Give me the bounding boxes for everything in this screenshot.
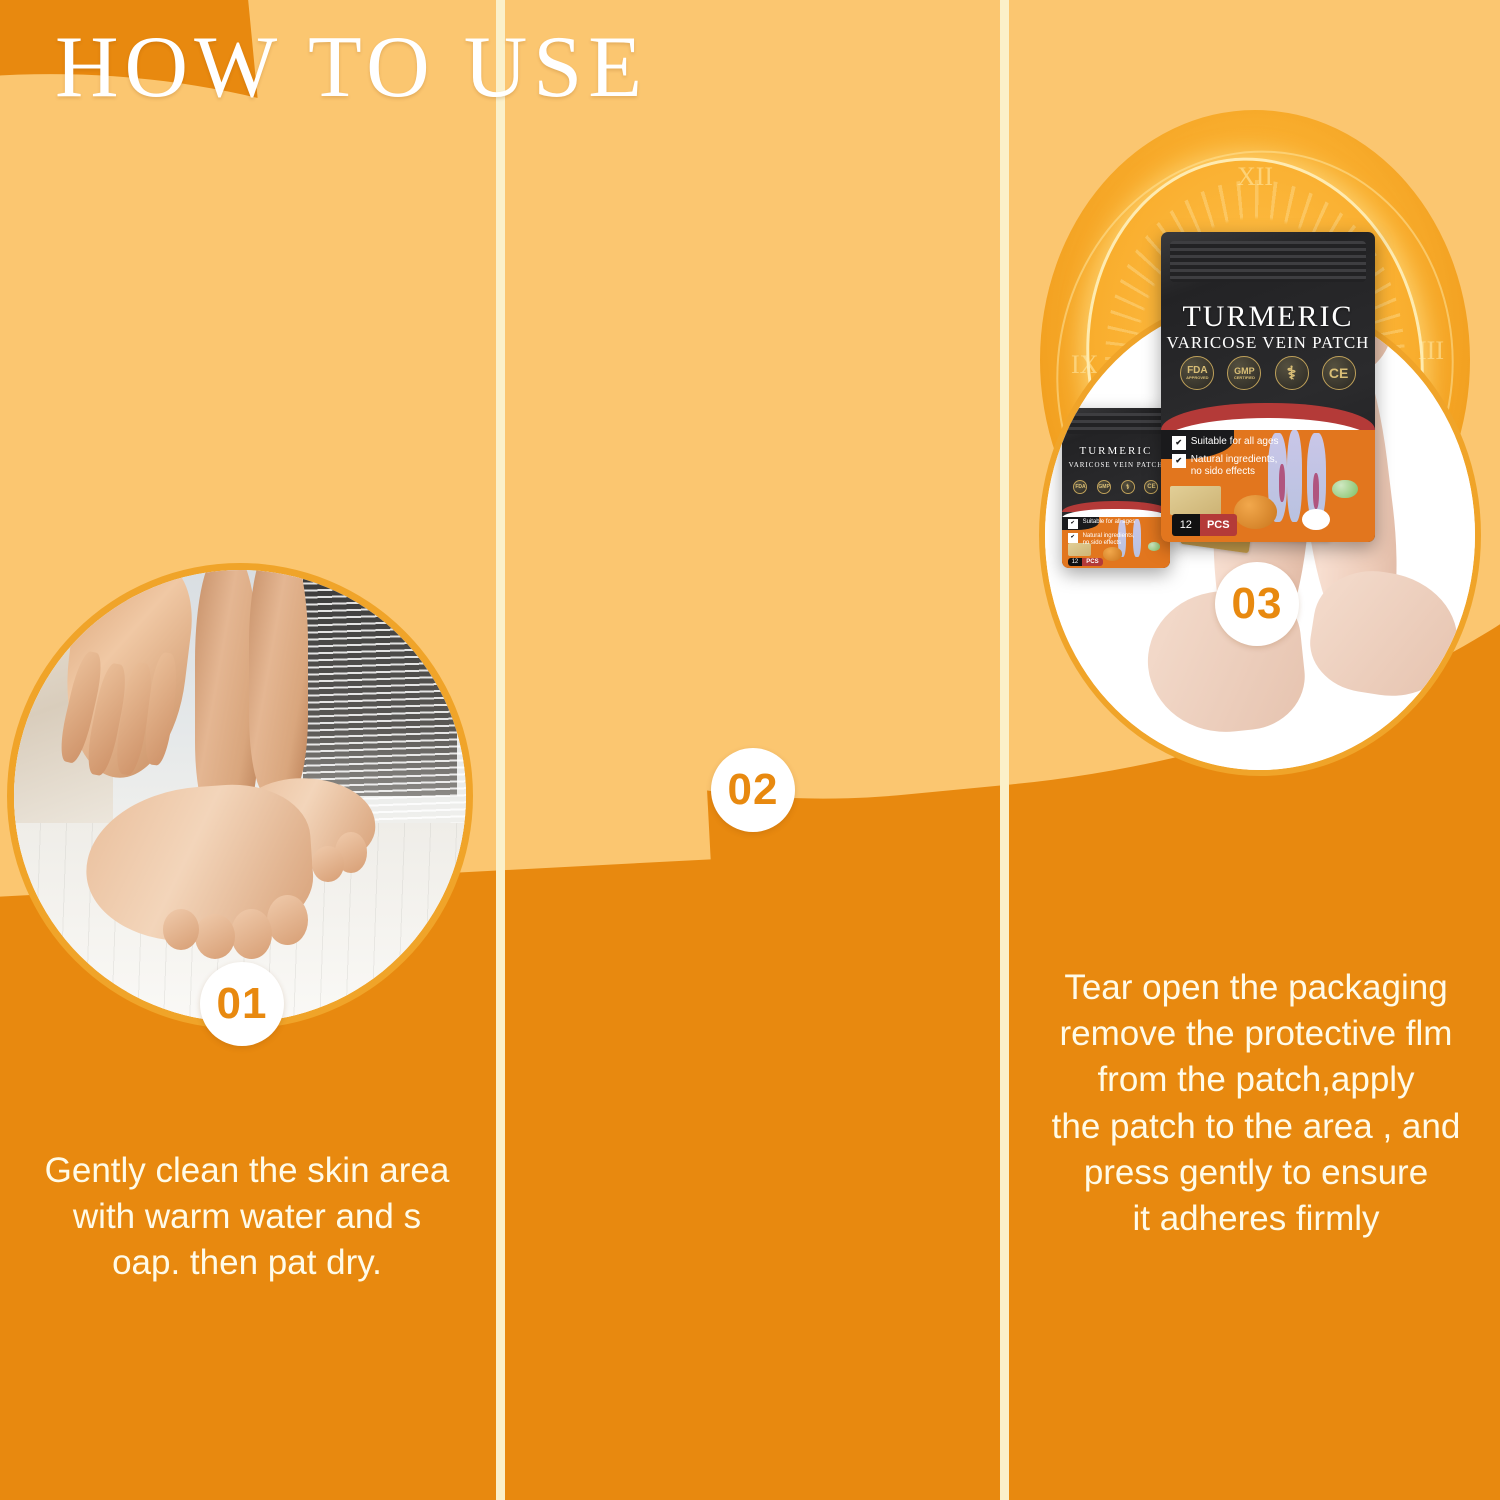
column-divider-1 <box>496 0 505 1500</box>
column-divider-2 <box>1000 0 1009 1500</box>
shower-scene <box>14 570 466 1022</box>
turmeric-root-icon <box>1234 495 1277 528</box>
varicose-vein-red-1 <box>1279 464 1285 502</box>
toe-3 <box>195 914 236 959</box>
toe-4 <box>163 909 199 950</box>
toe-2 <box>231 909 272 959</box>
package-count: 12 PCS <box>1172 514 1237 536</box>
package-brand: TURMERIC <box>1161 300 1375 334</box>
toe-1 <box>267 895 308 945</box>
product-package-large: TURMERIC VARICOSE VEIN PATCH FDA APPROVE… <box>1161 232 1375 542</box>
step-column-03: TURMERIC VARICOSE VEIN PATCH FDA APPROVE… <box>1009 0 1500 1500</box>
leaf-circle-icon <box>1302 509 1330 530</box>
step-number-badge-02: 02 <box>711 748 795 832</box>
feature-text-2b: no sido effects <box>1191 466 1255 477</box>
checkbox-icon-1: ✔ <box>1172 436 1186 450</box>
step-number-badge-03: 03 <box>1215 562 1299 646</box>
gmp-badge-icon-large: GMP CERTIFIED <box>1227 356 1261 390</box>
package-features: ✔ Suitable for all ages ✔ Natural ingred… <box>1172 436 1279 482</box>
certification-badges: FDA APPROVED GMP CERTIFIED ⚕ CE <box>1174 356 1362 390</box>
feature-text-1: Suitable for all ages <box>1191 436 1279 448</box>
gmp-badge-sub: CERTIFIED <box>1234 376 1255 380</box>
fda-badge-sub: APPROVED <box>1186 376 1208 380</box>
varicose-vein-red-2 <box>1313 473 1319 509</box>
caduceus-badge-icon-large: ⚕ <box>1275 356 1309 390</box>
front-leg <box>249 570 308 796</box>
checkbox-icon-2: ✔ <box>1172 454 1186 468</box>
step-01-caption-line-3: oap. then pat dry. <box>14 1240 480 1286</box>
step-01-caption-line-2: with warm water and s <box>14 1194 480 1240</box>
toe-6 <box>312 846 344 882</box>
count-unit: PCS <box>1200 514 1237 536</box>
package-lower-panel: ✔ Suitable for all ages ✔ Natural ingred… <box>1161 430 1375 542</box>
feature-row-2: ✔ Natural ingredients,no sido effects <box>1172 454 1279 478</box>
step-01-caption: Gently clean the skin area with warm wat… <box>14 1148 480 1287</box>
step-column-02: TURMERIC VARICOSE VEIN PATCH FDA GMP ⚕ C… <box>505 0 1000 1500</box>
ce-badge-icon-large: CE <box>1322 356 1356 390</box>
step-column-01: 01 Gently clean the skin area with warm … <box>0 0 496 1500</box>
germ-icon <box>1332 480 1358 499</box>
step-01-photo <box>14 570 466 1022</box>
page-title: HOW TO USE <box>55 22 648 114</box>
package-zip-strip-large <box>1170 241 1367 281</box>
step-number-badge-01: 01 <box>200 962 284 1046</box>
package-subtitle: VARICOSE VEIN PATCH <box>1161 333 1375 353</box>
fda-badge-icon-large: FDA APPROVED <box>1180 356 1214 390</box>
vein-illustration-2 <box>1287 430 1302 522</box>
step-01-caption-line-1: Gently clean the skin area <box>14 1148 480 1194</box>
count-value: 12 <box>1172 514 1200 536</box>
how-to-use-poster: IX III XII II HOW TO USE <box>0 0 1500 1500</box>
feature-text-2a: Natural ingredients, <box>1191 454 1278 465</box>
feature-row-1: ✔ Suitable for all ages <box>1172 436 1279 450</box>
patch-swatch <box>1170 486 1221 515</box>
